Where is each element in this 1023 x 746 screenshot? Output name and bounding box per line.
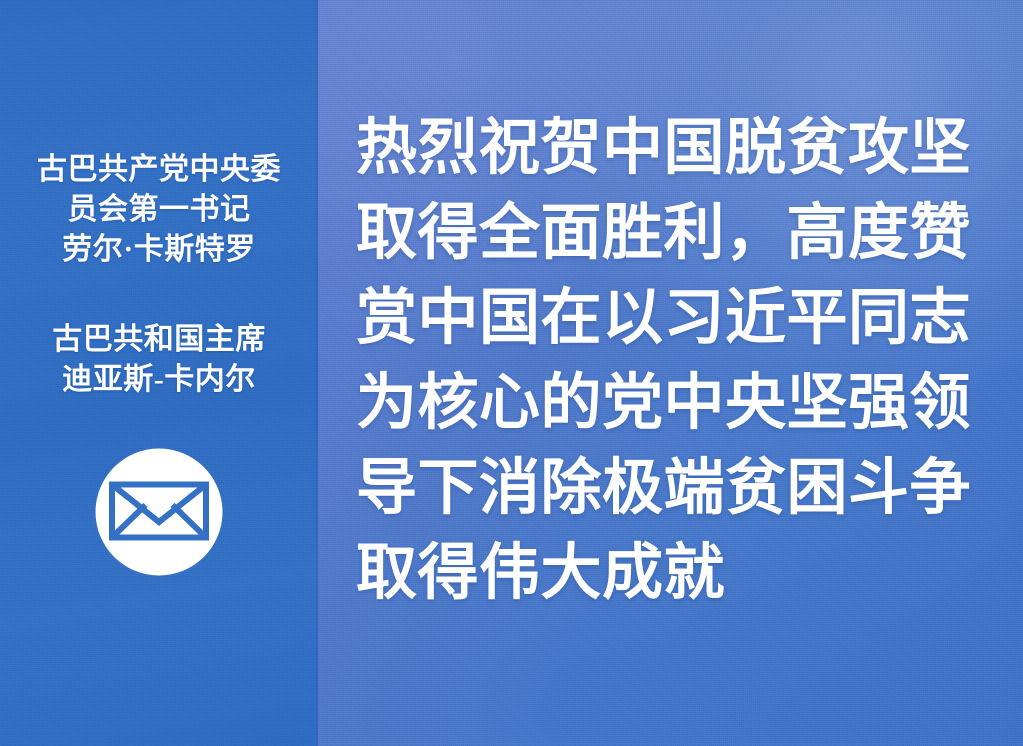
attribution-line: 迪亚斯-卡内尔 xyxy=(14,360,304,400)
attribution-line: 古巴共产党中央委 xyxy=(14,150,304,190)
headline-text: 热烈祝贺中国脱贫攻坚取得全面胜利，高度赞赏中国在以习近平同志为核心的党中央坚强领… xyxy=(356,106,980,616)
attribution-block-president: 古巴共和国主席 迪亚斯-卡内尔 xyxy=(14,320,304,400)
attribution-line: 员会第一书记 xyxy=(14,190,304,230)
left-panel: 古巴共产党中央委 员会第一书记 劳尔·卡斯特罗 古巴共和国主席 迪亚斯-卡内尔 xyxy=(0,0,318,746)
attribution-block-party-secretary: 古巴共产党中央委 员会第一书记 劳尔·卡斯特罗 xyxy=(14,150,304,270)
attribution-line: 古巴共和国主席 xyxy=(14,320,304,360)
poster-canvas: 古巴共产党中央委 员会第一书记 劳尔·卡斯特罗 古巴共和国主席 迪亚斯-卡内尔 … xyxy=(0,0,1023,746)
attribution-line: 劳尔·卡斯特罗 xyxy=(14,230,304,270)
envelope-icon xyxy=(95,448,223,576)
